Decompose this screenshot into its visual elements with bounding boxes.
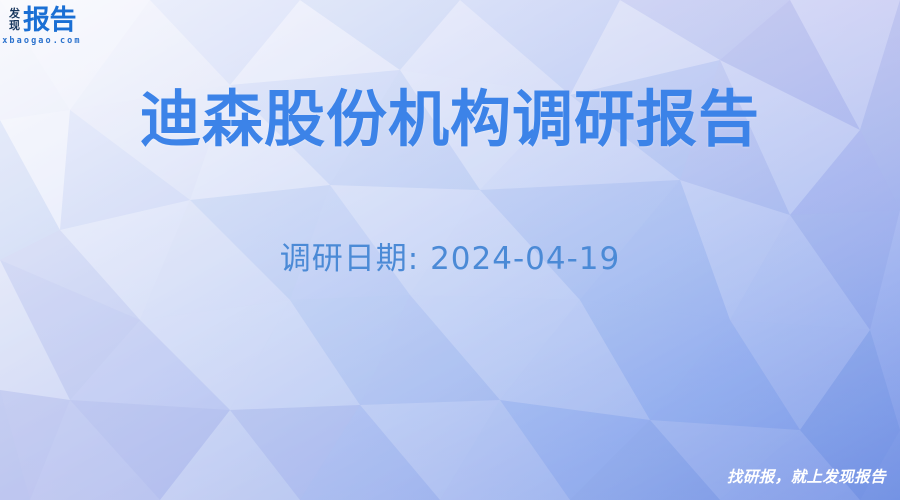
- footer-tagline: 找研报，就上发现报告: [727, 467, 886, 487]
- logo-mark-characters: 发 现: [9, 7, 20, 32]
- brand-logo[interactable]: 发 现 报告 fxbaogao.com: [9, 7, 82, 46]
- survey-date: 调研日期: 2024-04-19: [0, 239, 900, 279]
- logo-text-group: 报告 fxbaogao.com: [23, 7, 82, 46]
- logo-wordmark: 报告: [23, 7, 82, 35]
- page-title: 迪森股份机构调研报告: [0, 82, 900, 158]
- report-cover-slide: 发 现 报告 fxbaogao.com 迪森股份机构调研报告 调研日期: 202…: [0, 0, 900, 500]
- logo-url: fxbaogao.com: [0, 36, 82, 46]
- cover-center-block: 迪森股份机构调研报告 调研日期: 2024-04-19: [0, 82, 900, 279]
- logo-mark-bottom: 现: [9, 20, 20, 32]
